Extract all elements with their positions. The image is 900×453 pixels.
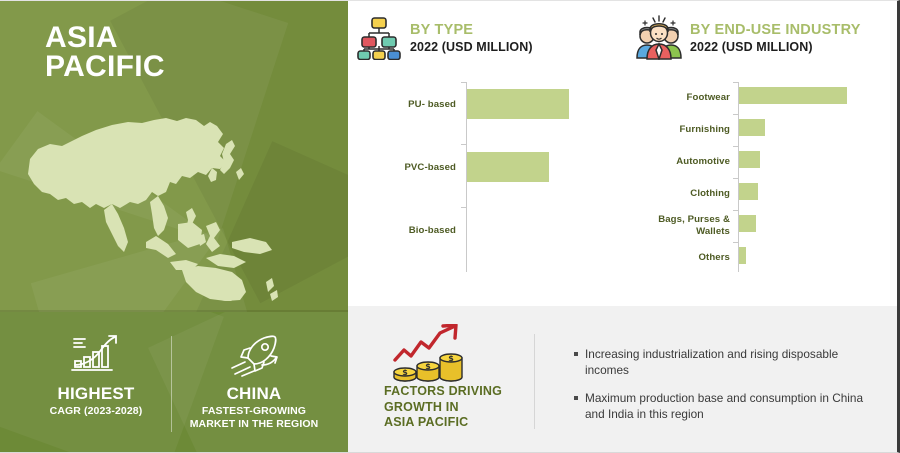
svg-text:$: $: [425, 362, 431, 371]
axis-tick: [461, 144, 466, 145]
chart-header-text: BY TYPE 2022 (USD MILLION): [410, 20, 533, 55]
bar-pu-based: [467, 89, 569, 119]
stat-subtitle-line1: FASTEST-GROWING: [178, 405, 330, 418]
bar-label: Bags, Purses & Wallets: [636, 214, 730, 237]
growth-factors-panel: $ $ $ FACTORS DRIVING GROWTH IN ASIA PAC…: [348, 306, 897, 453]
stat-title: CHINA: [178, 384, 330, 404]
stats-band: HIGHEST CAGR (2023-2028): [0, 312, 348, 453]
growth-factors-title-line2: GROWTH IN: [384, 400, 534, 416]
region-panel: ASIA PACIFIC: [0, 1, 348, 453]
growth-factors-title-line1: FACTORS DRIVING: [384, 384, 534, 400]
rocket-icon: [178, 330, 330, 380]
chart-by-type: BY TYPE 2022 (USD MILLION) PU- based PVC…: [356, 1, 618, 279]
stat-subtitle: FASTEST-GROWING MARKET IN THE REGION: [178, 405, 330, 431]
region-title-line2: PACIFIC: [45, 52, 165, 81]
y-axis: [738, 82, 739, 272]
people-group-icon: [636, 14, 682, 60]
coins-growth-arrow-icon: $ $ $: [390, 324, 466, 384]
bar-footwear: [739, 87, 847, 104]
region-title-line1: ASIA: [45, 23, 165, 52]
bar-pvc-based: [467, 152, 549, 182]
page-title: ASIA PACIFIC: [45, 23, 165, 81]
list-item: Increasing industrialization and rising …: [574, 346, 874, 378]
footer-divider: [534, 334, 535, 429]
chart-header-text: BY END-USE INDUSTRY 2022 (USD MILLION): [690, 20, 861, 55]
bar-furnishing: [739, 119, 765, 136]
chart-header: BY END-USE INDUSTRY 2022 (USD MILLION): [636, 1, 894, 60]
bar-label: PU- based: [356, 99, 456, 111]
axis-tick: [733, 178, 738, 179]
stat-subtitle-line2: MARKET IN THE REGION: [178, 418, 330, 431]
chart-title: BY END-USE INDUSTRY: [690, 22, 861, 38]
bar-bags-purses-wallets: [739, 215, 756, 232]
stat-subtitle: CAGR (2023-2028): [26, 405, 166, 418]
list-item: Maximum production base and consumption …: [574, 390, 874, 422]
chart-title: BY TYPE: [410, 22, 533, 38]
axis-tick: [461, 82, 466, 83]
org-chart-icon: [356, 14, 402, 60]
infographic-frame: ASIA PACIFIC: [0, 0, 900, 453]
bullet-square-icon: [574, 396, 578, 400]
bar-label: Bio-based: [356, 225, 456, 237]
chart-subtitle: 2022 (USD MILLION): [690, 39, 861, 55]
chart-subtitle: 2022 (USD MILLION): [410, 39, 533, 55]
axis-tick: [733, 242, 738, 243]
axis-tick: [733, 146, 738, 147]
bar-chart-growth-icon: [26, 330, 166, 380]
bar-label: Automotive: [636, 156, 730, 168]
list-item-text: Increasing industrialization and rising …: [585, 346, 874, 378]
svg-text:$: $: [402, 368, 408, 377]
bar-label: Footwear: [636, 92, 730, 104]
stat-highest-cagr: HIGHEST CAGR (2023-2028): [26, 330, 166, 418]
axis-tick: [733, 114, 738, 115]
svg-text:$: $: [448, 354, 454, 363]
stat-title: HIGHEST: [26, 384, 166, 404]
stat-china-fastest-growing: CHINA FASTEST-GROWING MARKET IN THE REGI…: [178, 330, 330, 431]
bar-label: PVC-based: [356, 162, 456, 174]
chart-by-end-use-industry: BY END-USE INDUSTRY 2022 (USD MILLION) F…: [636, 1, 894, 279]
axis-tick: [733, 210, 738, 211]
axis-tick: [461, 207, 466, 208]
bar-label: Clothing: [636, 188, 730, 200]
plot-by-end-use-industry: Footwear Furnishing Automotive Clothing …: [636, 74, 894, 279]
stats-divider: [171, 336, 172, 432]
bar-others: [739, 247, 746, 264]
growth-factors-list: Increasing industrialization and rising …: [574, 346, 874, 434]
plot-by-type: PU- based PVC-based Bio-based: [356, 74, 618, 279]
bar-automotive: [739, 151, 760, 168]
bar-label: Furnishing: [636, 124, 730, 136]
bullet-square-icon: [574, 352, 578, 356]
chart-header: BY TYPE 2022 (USD MILLION): [356, 1, 618, 60]
bar-label: Others: [636, 252, 730, 264]
growth-factors-title: FACTORS DRIVING GROWTH IN ASIA PACIFIC: [384, 384, 534, 431]
asia-pacific-map-icon: [20, 96, 330, 301]
bar-clothing: [739, 183, 758, 200]
list-item-text: Maximum production base and consumption …: [585, 390, 874, 422]
growth-factors-title-line3: ASIA PACIFIC: [384, 415, 534, 431]
axis-tick: [733, 82, 738, 83]
